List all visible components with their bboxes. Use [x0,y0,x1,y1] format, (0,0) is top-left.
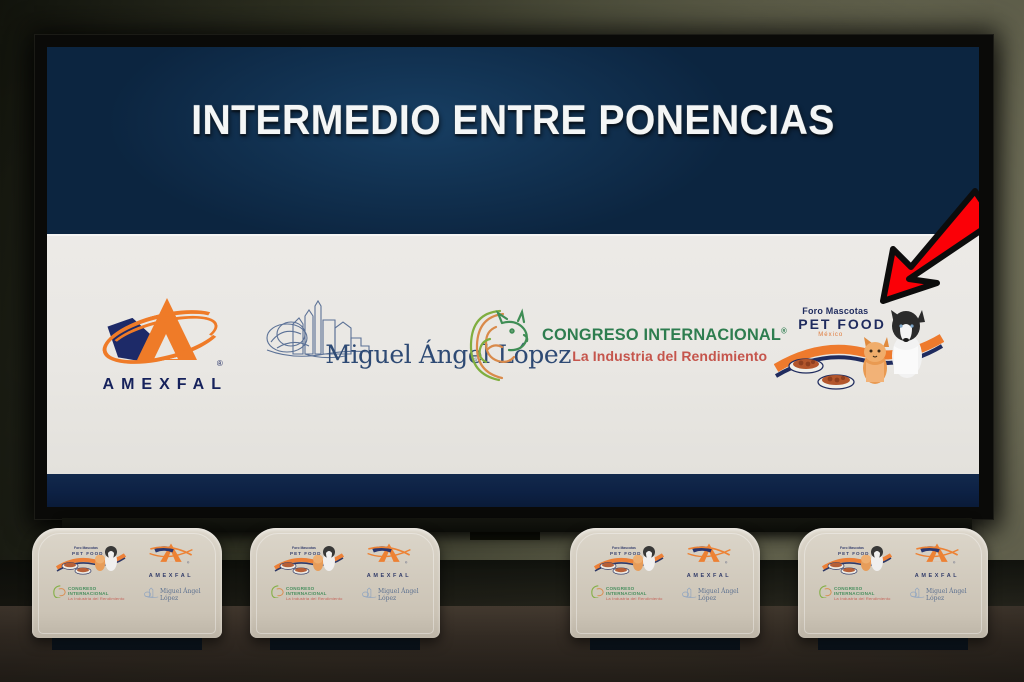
food-bowl-icon-2 [818,375,854,389]
chair-congreso-line2: La Industria del Rendimiento [286,596,352,601]
chair-logo-amexfal: ® AMEXFAL [678,542,740,576]
chair-congreso-line1: CONGRESO INTERNACIONAL [286,586,352,596]
chair-logo-group: Foro Mascotas PET FOOD ® AMEXFAL [810,542,976,622]
chair-congreso-line1: CONGRESO INTERNACIONAL [68,586,134,596]
chair-amexfal-wordmark: AMEXFAL [140,573,202,579]
chair-congreso-line1: CONGRESO INTERNACIONAL [834,586,900,596]
logo-amexfal: ® AMEXFAL [82,289,242,399]
congreso-text-block: CONGRESO INTERNACIONAL® La Industria del… [542,325,797,364]
chair-congreso-line2: La Industria del Rendimiento [606,596,672,601]
chair-congreso-line2: La Industria del Rendimiento [834,596,900,601]
chair-3: Foro Mascotas PET FOOD ® AMEXFAL [570,528,760,648]
chair-logo-amexfal: ® AMEXFAL [140,542,202,576]
svg-text:®: ® [953,560,956,564]
orange-cat-icon [863,337,889,384]
amexfal-mark-icon: ® [97,294,227,374]
slide-footer-band [47,474,979,507]
chair-logo-congreso: CONGRESO INTERNACIONAL La Industria del … [54,586,134,602]
dog-cat-emblem-icon [466,305,538,383]
header-glow [94,47,746,253]
chair-logo-congreso: CONGRESO INTERNACIONAL La Industria del … [592,586,672,602]
chair-leg [818,636,968,650]
chair-logo-congreso: CONGRESO INTERNACIONAL La Industria del … [272,586,352,602]
chair-leg [52,636,202,650]
chair-1: Foro Mascotas PET FOOD ® AMEXFAL [32,528,222,648]
logo-miguel-angel-lopez: Miguel Ángel López ® [259,296,489,392]
chair-back-cover: Foro Mascotas PET FOOD ® AMEXFAL [570,528,760,638]
svg-text:Foro Mascotas: Foro Mascotas [840,546,864,550]
chair-amexfal-wordmark: AMEXFAL [906,573,968,579]
svg-text:®: ® [405,560,408,564]
chair-logo-miguel-angel-lopez: Miguel Ángel López [364,588,434,602]
chair-amexfal-wordmark: AMEXFAL [678,573,740,579]
presentation-slide: INTERMEDIO ENTRE PONENCIAS ® [47,47,979,507]
logo-foro-mascotas-pet-food: Foro Mascotas PET FOOD México [774,294,944,394]
chair-logo-congreso: CONGRESO INTERNACIONAL La Industria del … [820,586,900,602]
chair-back-cover: Foro Mascotas PET FOOD ® AMEXFAL [32,528,222,638]
chair-leg [270,636,420,650]
logo-congreso-internacional: CONGRESO INTERNACIONAL® La Industria del… [507,301,757,387]
chair-logo-group: Foro Mascotas PET FOOD ® AMEXFAL [262,542,428,622]
congreso-line1-text: CONGRESO INTERNACIONAL [542,325,781,344]
chair-back-cover: Foro Mascotas PET FOOD ® AMEXFAL [250,528,440,638]
red-arrow-icon [837,187,979,307]
chair-logo-miguel-angel-lopez: Miguel Ángel López [146,588,216,602]
slide-title: INTERMEDIO ENTRE PONENCIAS [80,99,947,141]
chair-logo-petfood: Foro Mascotas PET FOOD [822,542,892,576]
chair-congreso-line1: CONGRESO INTERNACIONAL [606,586,672,596]
svg-text:PET FOOD: PET FOOD [838,551,869,556]
svg-text:PET FOOD: PET FOOD [72,551,103,556]
svg-text:PET FOOD: PET FOOD [610,551,641,556]
chair-logo-group: Foro Mascotas PET FOOD ® AMEXFAL [582,542,748,622]
chair-congreso-line2: La Industria del Rendimiento [68,596,134,601]
chair-logo-group: Foro Mascotas PET FOOD ® AMEXFAL [44,542,210,622]
svg-text:®: ® [187,560,190,564]
svg-text:Foro Mascotas: Foro Mascotas [292,546,316,550]
congreso-line2: La Industria del Rendimiento [542,348,797,364]
chair-4: Foro Mascotas PET FOOD ® AMEXFAL [798,528,988,648]
petfood-illustration [774,294,944,394]
chair-logo-miguel-angel-lopez: Miguel Ángel López [684,588,754,602]
chair-leg [590,636,740,650]
chair-mal-wordmark: Miguel Ángel López [926,588,982,602]
chair-logo-miguel-angel-lopez: Miguel Ángel López [912,588,982,602]
chair-back-cover: Foro Mascotas PET FOOD ® AMEXFAL [798,528,988,638]
amexfal-registered-mark: ® [217,359,223,368]
chair-logo-amexfal: ® AMEXFAL [906,542,968,576]
svg-text:®: ® [725,560,728,564]
congreso-line1: CONGRESO INTERNACIONAL® [542,325,787,345]
chair-logo-petfood: Foro Mascotas PET FOOD [594,542,664,576]
chair-logo-amexfal: ® AMEXFAL [358,542,420,576]
svg-text:Foro Mascotas: Foro Mascotas [74,546,98,550]
food-bowl-icon-1 [789,359,823,373]
chair-logo-petfood: Foro Mascotas PET FOOD [274,542,344,576]
chair-mal-wordmark: Miguel Ángel López [698,588,754,602]
amexfal-wordmark: AMEXFAL [96,376,228,394]
chair-mal-wordmark: Miguel Ángel López [378,588,434,602]
chair-logo-petfood: Foro Mascotas PET FOOD [56,542,126,576]
chair-2: Foro Mascotas PET FOOD ® AMEXFAL [250,528,440,648]
svg-text:PET FOOD: PET FOOD [290,551,321,556]
svg-text:Foro Mascotas: Foro Mascotas [612,546,636,550]
chair-mal-wordmark: Miguel Ángel López [160,588,216,602]
chair-amexfal-wordmark: AMEXFAL [358,573,420,579]
presentation-screen-frame: INTERMEDIO ENTRE PONENCIAS ® [34,34,994,520]
